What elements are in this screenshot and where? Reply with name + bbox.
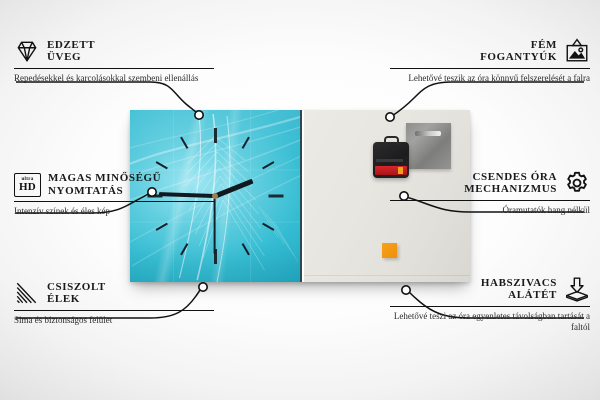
mechanism-strip [376, 159, 403, 162]
clock-second-hand [214, 196, 216, 254]
mechanism-hook [384, 136, 399, 145]
feature-head: CSENDES ÓRAMECHANIZMUS [390, 170, 590, 196]
badge-main-label: HD [19, 182, 36, 193]
infographic-canvas: EDZETTÜVEG Repedésekkel és karcolásokkal… [0, 0, 600, 400]
foam-pad-arrow-icon [564, 276, 590, 302]
feature-rule [14, 201, 214, 202]
diamond-icon [14, 38, 40, 64]
feature-head: CSISZOLTÉLEK [14, 280, 214, 306]
feature-rule [390, 200, 590, 201]
feature-polished-edges: CSISZOLTÉLEK Sima és biztonságos felület [14, 280, 214, 326]
hanger-slot [415, 131, 441, 136]
foam-pad [382, 243, 397, 258]
feature-desc: Lehetővé teszik az óra könnyű felszerelé… [390, 73, 590, 84]
metal-hanger-plate [406, 123, 451, 169]
feature-head: FÉMFOGANTYÚK [390, 38, 590, 64]
feature-title: HABSZIVACSALÁTÉT [481, 277, 557, 302]
feature-desc: Repedésekkel és karcolásokkal szembeni e… [14, 73, 214, 84]
feature-quiet-mechanism: CSENDES ÓRAMECHANIZMUS Óramutatók hang n… [390, 170, 590, 216]
feature-tempered-glass: EDZETTÜVEG Repedésekkel és karcolásokkal… [14, 38, 214, 84]
feature-rule [390, 306, 590, 307]
feature-foam-pad: HABSZIVACSALÁTÉT Lehetővé teszi az óra e… [390, 276, 590, 333]
feature-desc: Lehetővé teszi az óra egyenletes távolsá… [390, 311, 590, 333]
beveled-edge-icon [14, 280, 40, 306]
feature-rule [14, 68, 214, 69]
feature-desc: Sima és biztonságos felület [14, 315, 214, 326]
clock-tick [269, 195, 284, 198]
feature-title: CSISZOLTÉLEK [47, 281, 106, 306]
feature-metal-handles: FÉMFOGANTYÚK Lehetővé teszik az óra könn… [390, 38, 590, 84]
feature-desc: Óramutatók hang nélkül [390, 205, 590, 216]
feature-title: CSENDES ÓRAMECHANIZMUS [464, 171, 557, 196]
feature-rule [390, 68, 590, 69]
feature-high-quality-print: ultra HD MAGAS MINŐSÉGŰNYOMTATÁS Intenzí… [14, 172, 214, 217]
picture-frame-hanger-icon [564, 38, 590, 64]
feature-title: MAGAS MINŐSÉGŰNYOMTATÁS [48, 172, 161, 197]
feature-head: EDZETTÜVEG [14, 38, 214, 64]
feature-desc: Intenzív színek és éles kép [14, 206, 214, 217]
feature-head: ultra HD MAGAS MINŐSÉGŰNYOMTATÁS [14, 172, 214, 197]
feature-rule [14, 310, 214, 311]
gear-icon [564, 170, 590, 196]
connector-tempered-glass [16, 82, 197, 113]
ultra-hd-badge-icon: ultra HD [14, 173, 41, 197]
feature-head: HABSZIVACSALÁTÉT [390, 276, 590, 302]
clock-tick [214, 128, 217, 143]
feature-title: FÉMFOGANTYÚK [480, 39, 557, 64]
feature-title: EDZETTÜVEG [47, 39, 95, 64]
